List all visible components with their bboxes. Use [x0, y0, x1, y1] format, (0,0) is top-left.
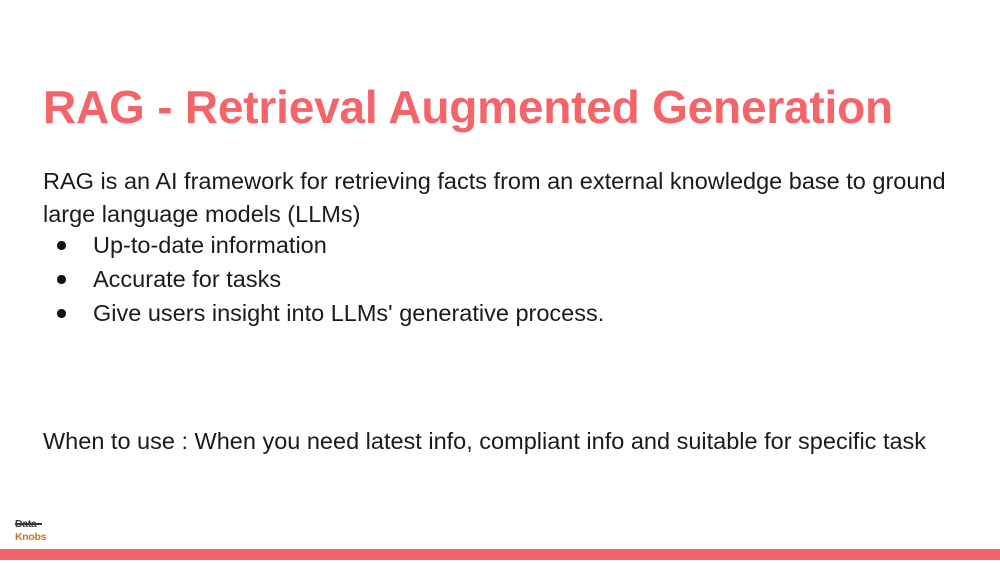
list-item-label: Give users insight into LLMs' generative… [93, 300, 604, 326]
benefits-bullet-list: Up-to-date information Accurate for task… [43, 228, 923, 330]
logo-line-knobs: Knobs [15, 531, 53, 543]
page-title: RAG - Retrieval Augmented Generation [43, 83, 963, 133]
presentation-slide: RAG - Retrieval Augmented Generation RAG… [0, 0, 1000, 563]
list-item-label: Up-to-date information [93, 232, 327, 258]
list-item: Give users insight into LLMs' generative… [43, 296, 923, 330]
list-item: Up-to-date information [43, 228, 923, 262]
bullet-dot-icon [57, 275, 66, 284]
list-item-label: Accurate for tasks [93, 266, 281, 292]
intro-paragraph: RAG is an AI framework for retrieving fa… [43, 165, 953, 231]
bullet-dot-icon [57, 241, 66, 250]
list-item: Accurate for tasks [43, 262, 923, 296]
bullet-dot-icon [57, 309, 66, 318]
usage-paragraph: When to use : When you need latest info,… [43, 424, 948, 459]
logo-line-data: Data [15, 518, 53, 530]
footer-accent-bar [0, 549, 1000, 560]
dataknobs-logo: Data Knobs [15, 518, 53, 544]
